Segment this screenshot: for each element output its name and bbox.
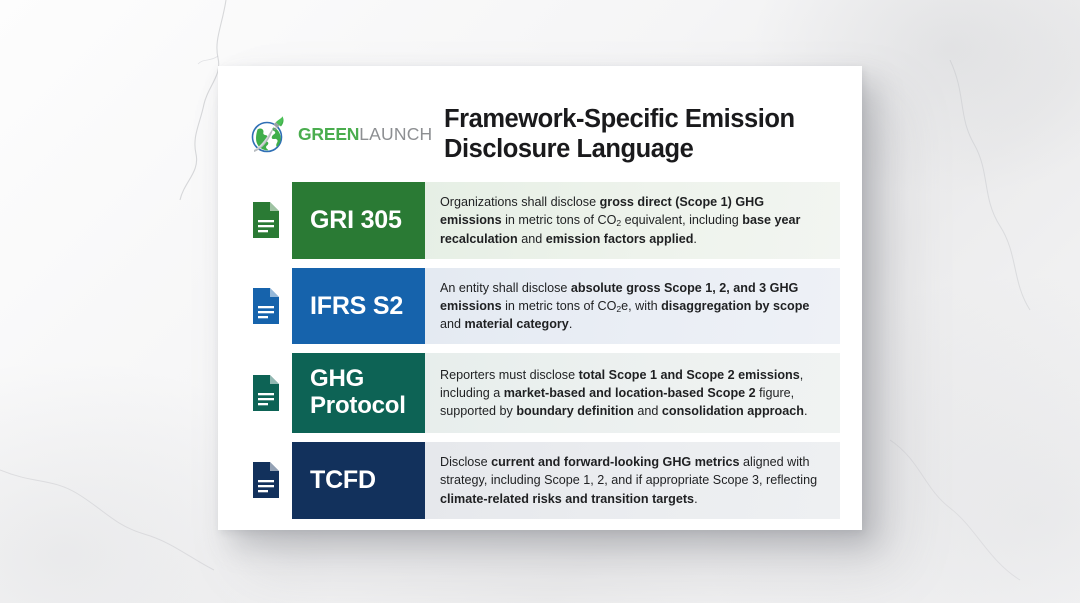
page-title-line1: Framework-Specific Emission [444,104,840,134]
card-content: GREENLAUNCH Framework-Specific Emission … [240,88,840,508]
brand-name-green: GREEN [298,124,359,144]
brand-lockup: GREENLAUNCH [244,110,434,158]
document-icon [251,374,281,412]
framework-row-gri: GRI 305 Organizations shall disclose gro… [240,182,840,259]
brand-wordmark: GREENLAUNCH [298,124,432,145]
row-icon-cell [240,442,292,518]
framework-text-ghg: Reporters must disclose total Scope 1 an… [425,353,840,433]
row-icon-cell [240,353,292,433]
infographic-card: GREENLAUNCH Framework-Specific Emission … [218,66,862,530]
framework-row-tcfd: TCFD Disclose current and forward-lookin… [240,442,840,518]
row-icon-cell [240,268,292,345]
framework-row-ghg: GHG Protocol Reporters must disclose tot… [240,353,840,433]
marble-vein-bottom-right [880,430,1080,603]
framework-row-ifrs: IFRS S2 An entity shall disclose absolut… [240,268,840,345]
marble-vein-right [930,60,1080,320]
document-icon [251,461,281,499]
framework-text-ifrs: An entity shall disclose absolute gross … [425,268,840,345]
framework-badge-gri: GRI 305 [292,182,425,259]
document-icon [251,287,281,325]
framework-list: GRI 305 Organizations shall disclose gro… [240,182,840,519]
globe-rocket-logo-icon [244,110,292,158]
framework-badge-ghg-line2: Protocol [310,393,406,420]
framework-text-tcfd: Disclose current and forward-looking GHG… [425,442,840,518]
brand-name-grey: LAUNCH [359,124,432,144]
framework-badge-ghg: GHG Protocol [292,353,425,433]
framework-text-gri: Organizations shall disclose gross direc… [425,182,840,259]
framework-badge-tcfd: TCFD [292,442,425,518]
page-title: Framework-Specific Emission Disclosure L… [434,104,840,165]
marble-vein-bottom-left [0,430,230,603]
row-icon-cell [240,182,292,259]
framework-badge-ghg-line1: GHG [310,366,406,393]
marble-background: GREENLAUNCH Framework-Specific Emission … [0,0,1080,603]
document-icon [251,201,281,239]
framework-badge-ifrs: IFRS S2 [292,268,425,345]
card-header: GREENLAUNCH Framework-Specific Emission … [240,88,840,180]
page-title-line2: Disclosure Language [444,134,840,164]
